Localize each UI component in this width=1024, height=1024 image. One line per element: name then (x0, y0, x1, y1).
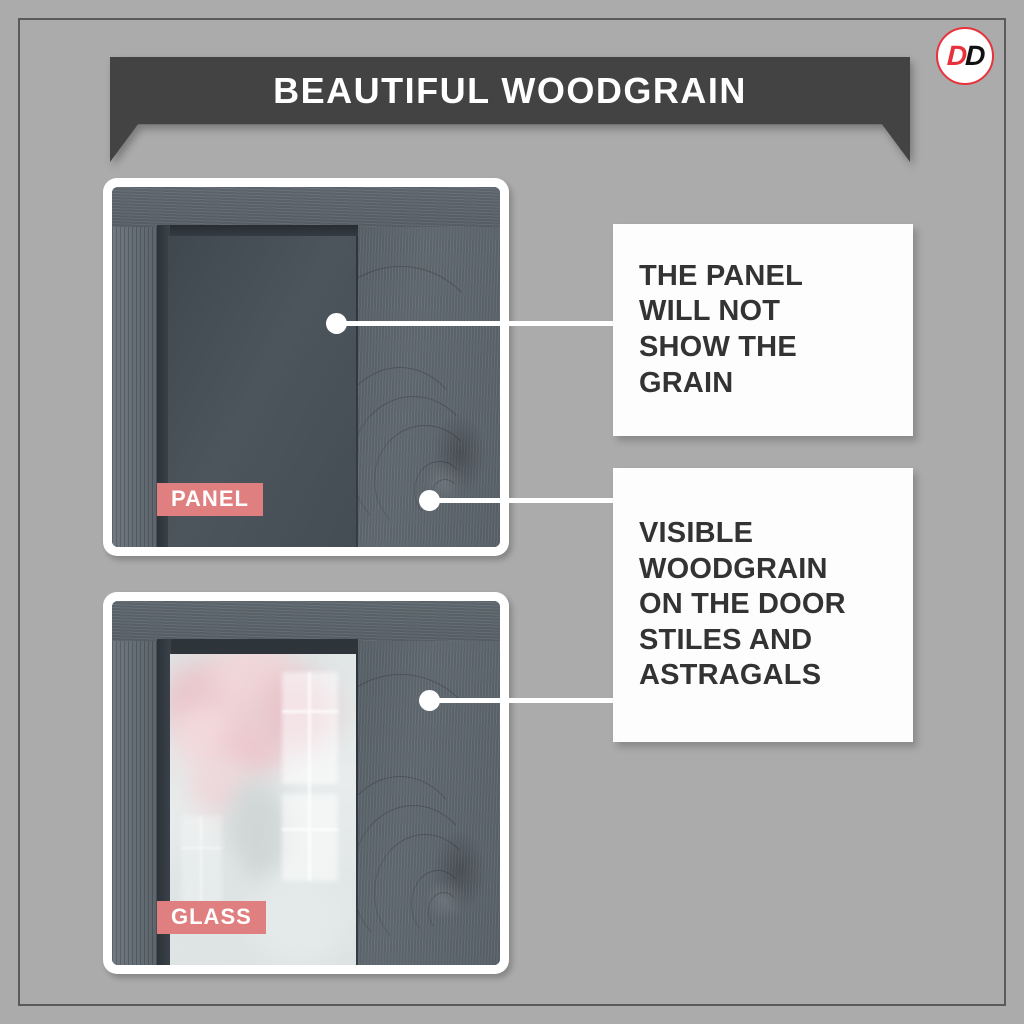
window-reflection-mullion (308, 672, 311, 881)
leader-line-panel (344, 321, 616, 326)
window-reflection-mullion (181, 847, 222, 849)
callout-box-woodgrain: VISIBLE WOODGRAIN ON THE DOOR STILES AND… (613, 468, 913, 742)
door-stile-woodgrain (356, 601, 500, 965)
door-jamb-left (112, 601, 162, 965)
leader-line-stile-lower (437, 698, 616, 703)
marker-dot-panel (326, 313, 347, 334)
blurred-foliage-blob (252, 872, 345, 965)
tag-panel: PANEL (157, 483, 263, 516)
door-jamb-left (112, 187, 162, 547)
photo-card-glass: GLASS (103, 592, 509, 974)
door-photo-panel: PANEL (112, 187, 500, 547)
window-reflection-mullion (282, 828, 338, 831)
window-reflection-mullion (282, 710, 338, 713)
tag-glass: GLASS (157, 901, 266, 934)
marker-dot-stile-lower (419, 690, 440, 711)
door-top-rail (112, 601, 500, 641)
brand-logo: DD (936, 27, 994, 85)
brand-logo-text: DD (946, 42, 983, 70)
brand-logo-letter-1: D (946, 40, 965, 71)
panel-bevel-top (157, 225, 359, 237)
door-top-rail (112, 187, 500, 227)
callout-text-woodgrain: VISIBLE WOODGRAIN ON THE DOOR STILES AND… (639, 516, 846, 694)
infographic-page: DD BEAUTIFUL WOODGRAIN PANEL (0, 0, 1024, 1024)
woodgrain-curve (428, 892, 459, 930)
marker-dot-stile-upper (419, 490, 440, 511)
door-photo-glass: GLASS (112, 601, 500, 965)
leader-line-stile-upper (437, 498, 616, 503)
header-ribbon: BEAUTIFUL WOODGRAIN (110, 57, 910, 162)
page-title: BEAUTIFUL WOODGRAIN (110, 70, 910, 112)
callout-box-panel: THE PANEL WILL NOT SHOW THE GRAIN (613, 224, 913, 436)
brand-logo-letter-2: D (964, 40, 983, 71)
callout-text-panel: THE PANEL WILL NOT SHOW THE GRAIN (639, 259, 803, 402)
